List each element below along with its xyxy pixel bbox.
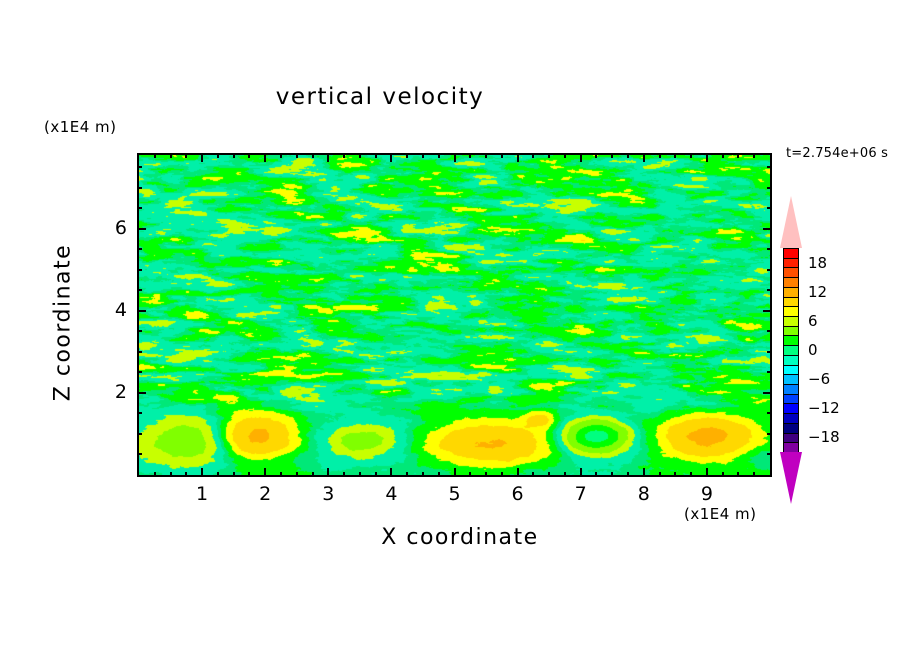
colorbar-tick-label: −18 xyxy=(808,428,840,446)
colorbar[interactable]: 181260−6−12−18 xyxy=(780,196,802,496)
x-tick-label: 6 xyxy=(498,483,538,505)
x-tick-label: 4 xyxy=(371,483,411,505)
x-tick-label: 2 xyxy=(245,483,285,505)
x-axis-title: X coordinate xyxy=(250,525,670,550)
axis-tick-labels-layer: 123456789246 xyxy=(137,153,772,477)
colorbar-under-arrow xyxy=(780,452,802,504)
y-axis-unit-label: (x1E4 m) xyxy=(44,118,117,136)
simulation-time-annotation: t=2.754e+06 s xyxy=(786,146,888,161)
x-tick-label: 9 xyxy=(687,483,727,505)
y-tick-label: 6 xyxy=(87,217,127,239)
colorbar-tick-label: 0 xyxy=(808,341,818,359)
x-tick-label: 8 xyxy=(624,483,664,505)
y-tick-label: 4 xyxy=(87,299,127,321)
x-tick-label: 3 xyxy=(308,483,348,505)
colorbar-swatch xyxy=(783,442,799,453)
colorbar-tick-label: −12 xyxy=(808,399,840,417)
x-tick-label: 7 xyxy=(561,483,601,505)
x-axis-unit-label: (x1E4 m) xyxy=(684,505,757,523)
colorbar-tick-label: 6 xyxy=(808,312,818,330)
colorbar-tick-label: −6 xyxy=(808,370,830,388)
x-tick-label: 5 xyxy=(435,483,475,505)
colorbar-tick-label: 18 xyxy=(808,254,827,272)
page-title: vertical velocity xyxy=(0,84,760,110)
x-tick-label: 1 xyxy=(182,483,222,505)
colorbar-swatches xyxy=(783,248,799,452)
y-axis-title: Z coordinate xyxy=(51,233,76,413)
colorbar-tick-label: 12 xyxy=(808,283,827,301)
y-tick-label: 2 xyxy=(87,381,127,403)
colorbar-over-arrow xyxy=(780,196,802,248)
